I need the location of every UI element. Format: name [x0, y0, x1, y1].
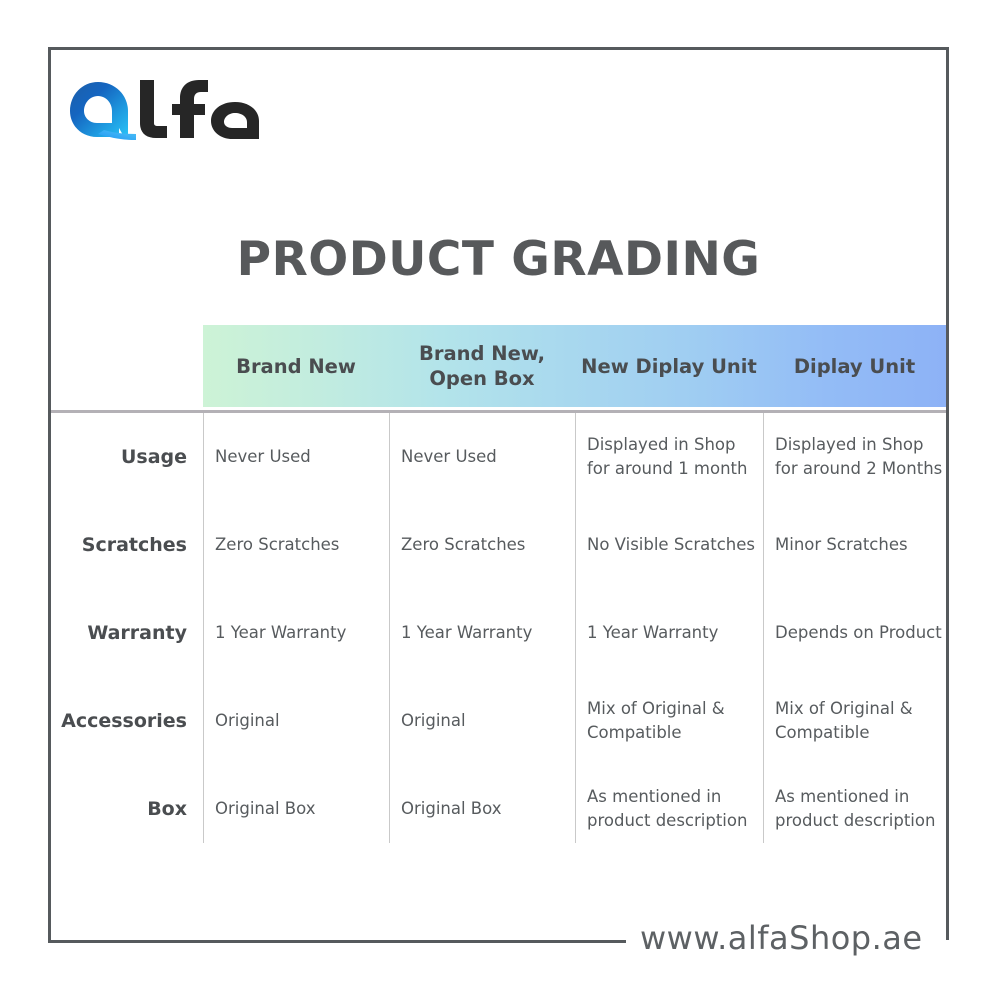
frame-border-top	[48, 47, 949, 50]
table-row: Warranty 1 Year Warranty 1 Year Warranty…	[51, 589, 946, 676]
table-row: Box Original Box Original Box As mention…	[51, 765, 946, 852]
cell-warranty-brand-new-open-box: 1 Year Warranty	[401, 589, 579, 676]
row-label-box: Box	[51, 765, 187, 852]
cell-box-display-unit: As mentioned in product description	[775, 765, 953, 852]
cell-usage-brand-new: Never Used	[215, 413, 393, 500]
product-grading-table: Brand New Brand New, Open Box New Diplay…	[51, 325, 946, 843]
table-row: Usage Never Used Never Used Displayed in…	[51, 413, 946, 500]
row-label-scratches: Scratches	[51, 501, 187, 588]
column-header-display-unit: Diplay Unit	[763, 325, 946, 407]
cell-scratches-display-unit: Minor Scratches	[775, 501, 953, 588]
product-grading-infographic: PRODUCT GRADING Brand New Brand New, Ope…	[0, 0, 1000, 1000]
row-label-usage: Usage	[51, 413, 187, 500]
alfa-logo	[68, 78, 263, 150]
column-header-brand-new: Brand New	[203, 325, 389, 407]
cell-scratches-new-display-unit: No Visible Scratches	[587, 501, 767, 588]
row-label-accessories: Accessories	[51, 677, 187, 764]
cell-accessories-brand-new: Original	[215, 677, 393, 764]
cell-box-new-display-unit: As mentioned in product description	[587, 765, 767, 852]
cell-warranty-brand-new: 1 Year Warranty	[215, 589, 393, 676]
cell-usage-new-display-unit: Displayed in Shop for around 1 month	[587, 413, 767, 500]
column-header-brand-new-open-box: Brand New, Open Box	[389, 325, 575, 407]
cell-usage-brand-new-open-box: Never Used	[401, 413, 579, 500]
cell-scratches-brand-new-open-box: Zero Scratches	[401, 501, 579, 588]
cell-box-brand-new-open-box: Original Box	[401, 765, 579, 852]
table-row: Scratches Zero Scratches Zero Scratches …	[51, 501, 946, 588]
cell-warranty-new-display-unit: 1 Year Warranty	[587, 589, 767, 676]
cell-scratches-brand-new: Zero Scratches	[215, 501, 393, 588]
row-label-warranty: Warranty	[51, 589, 187, 676]
frame-border-bottom	[48, 940, 626, 943]
cell-warranty-display-unit: Depends on Product	[775, 589, 953, 676]
website-url[interactable]: www.alfaShop.ae	[640, 919, 923, 957]
cell-accessories-display-unit: Mix of Original & Compatible	[775, 677, 953, 764]
page-title: PRODUCT GRADING	[51, 228, 946, 292]
cell-box-brand-new: Original Box	[215, 765, 393, 852]
table-row: Accessories Original Original Mix of Ori…	[51, 677, 946, 764]
column-header-new-display-unit: New Diplay Unit	[575, 325, 763, 407]
cell-accessories-brand-new-open-box: Original	[401, 677, 579, 764]
cell-accessories-new-display-unit: Mix of Original & Compatible	[587, 677, 767, 764]
cell-usage-display-unit: Displayed in Shop for around 2 Months	[775, 413, 953, 500]
